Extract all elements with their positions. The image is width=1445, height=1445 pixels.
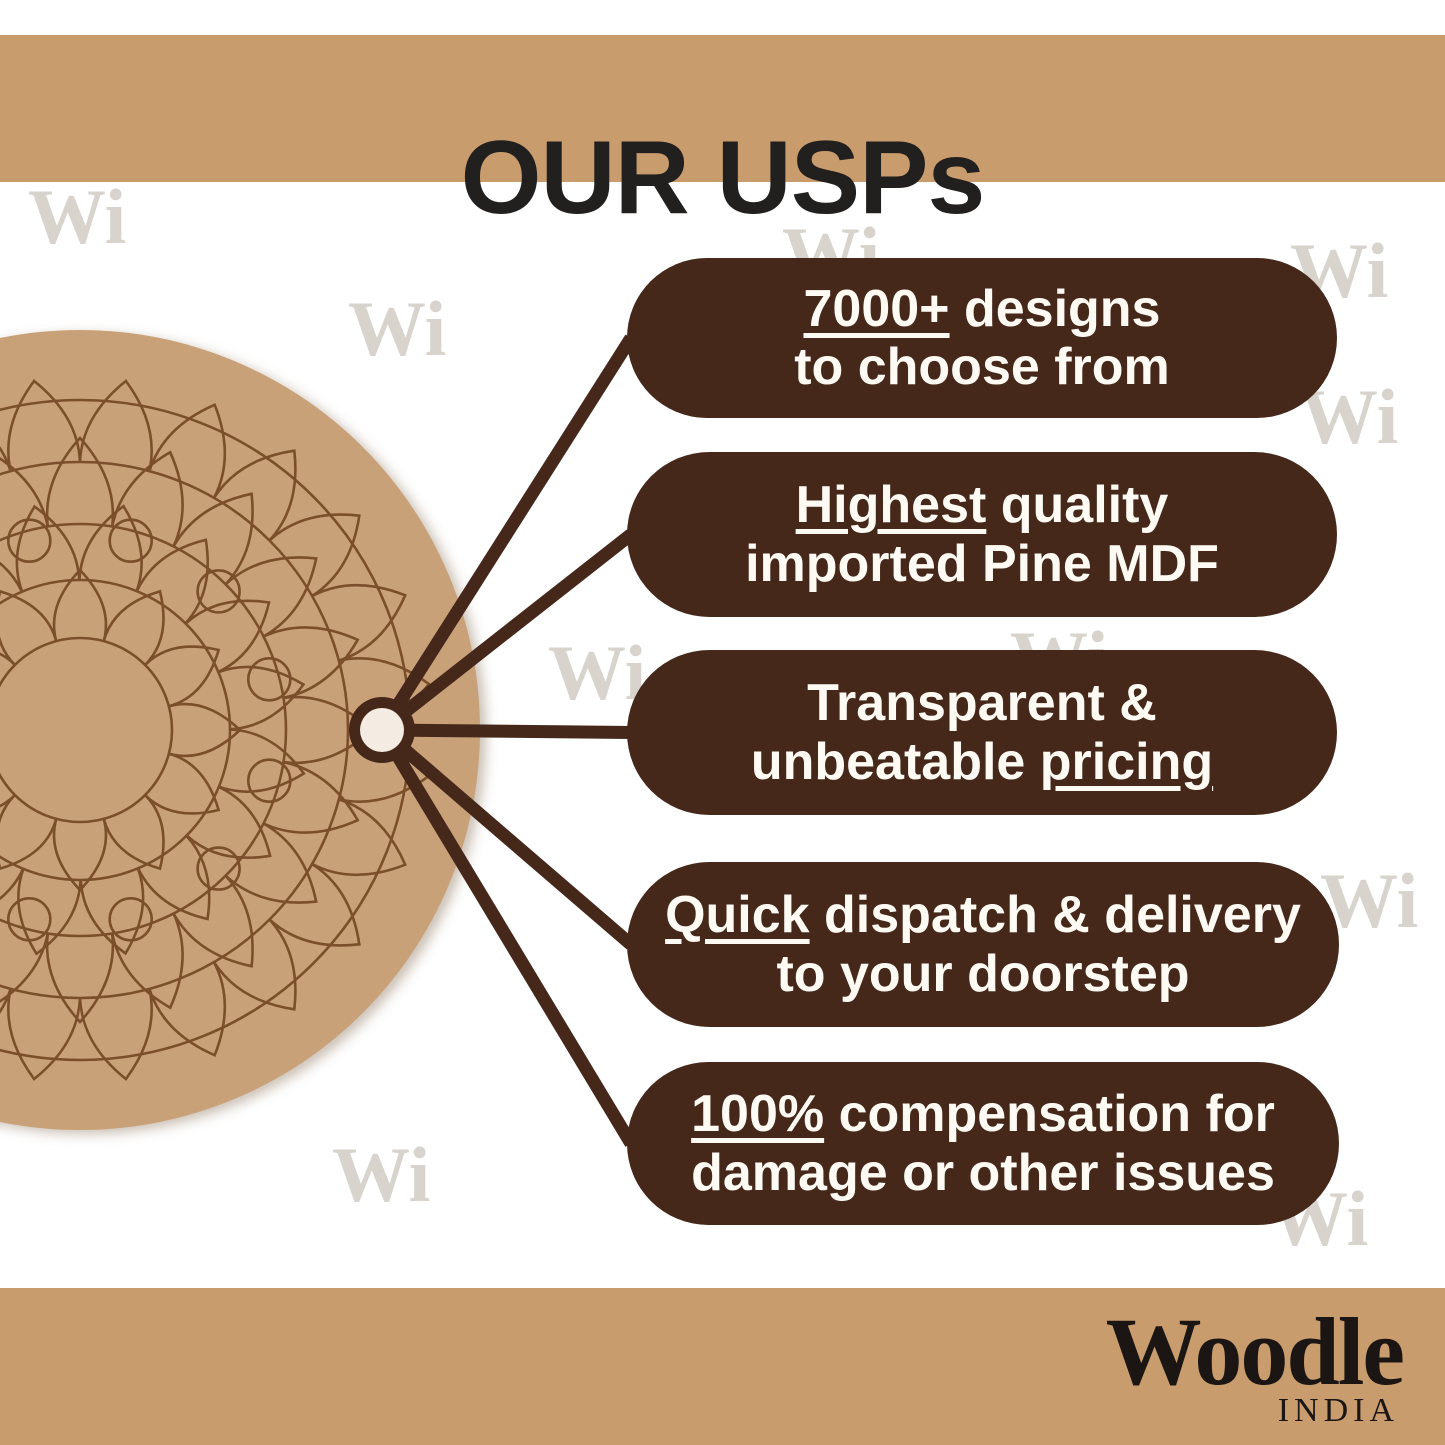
usp-line2: to choose from: [794, 338, 1170, 396]
usp-pill-text: 100% compensation for damage or other is…: [691, 1085, 1275, 1201]
usp-pill-text: Highest quality imported Pine MDF: [745, 476, 1219, 592]
connector-line: [382, 730, 631, 733]
connector-hub: [349, 697, 415, 763]
usp-pill-dispatch-delivery[interactable]: Quick dispatch & delivery to your doorst…: [627, 862, 1339, 1027]
usp-line1-rest: designs: [950, 280, 1161, 338]
usp-line2: damage or other issues: [691, 1144, 1275, 1202]
usp-highlight: 7000+: [803, 280, 949, 338]
usp-pill-material-quality[interactable]: Highest quality imported Pine MDF: [627, 452, 1337, 617]
usp-pill-text: Transparent & unbeatable pricing: [751, 674, 1213, 790]
usp-line1-rest: quality: [986, 476, 1168, 534]
usp-pill-designs-count[interactable]: 7000+ designs to choose from: [627, 258, 1337, 418]
usp-line2: to your doorstep: [776, 945, 1189, 1003]
usp-highlight: Quick: [665, 886, 810, 944]
brand-logo-word: Woodle: [1106, 1304, 1403, 1400]
usp-highlight: Highest: [796, 476, 987, 534]
usp-line1-rest: dispatch & delivery: [810, 886, 1301, 944]
usp-line1-rest: compensation for: [824, 1085, 1275, 1143]
usp-pill-pricing[interactable]: Transparent & unbeatable pricing: [627, 650, 1337, 815]
infographic-canvas: WiWiWiWiWiWiWiWiWiWi OUR USPs: [0, 0, 1445, 1445]
usp-line2-prefix: unbeatable: [751, 733, 1040, 791]
usp-line2: imported Pine MDF: [745, 535, 1219, 593]
brand-logo: Woodle INDIA: [1106, 1304, 1403, 1428]
usp-pill-text: 7000+ designs to choose from: [794, 280, 1170, 396]
usp-pill-text: Quick dispatch & delivery to your doorst…: [665, 886, 1301, 1002]
usp-highlight: pricing: [1040, 733, 1213, 791]
usp-line1-rest: Transparent &: [807, 674, 1157, 732]
usp-pill-compensation[interactable]: 100% compensation for damage or other is…: [627, 1062, 1339, 1225]
usp-highlight: 100%: [691, 1085, 824, 1143]
